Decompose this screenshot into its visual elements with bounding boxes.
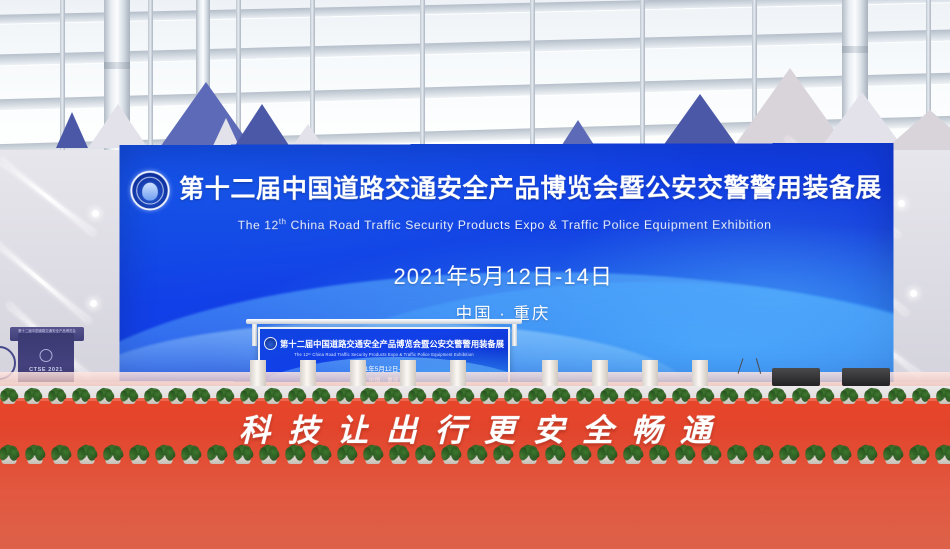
screen-date: 2021年5月12日-14日 [394,259,613,291]
mini-screen-truss [246,319,522,324]
glass-band [0,0,950,25]
screen-title-row: 第十二届中国道路交通安全产品博览会暨公安交警警用装备展 [131,169,882,210]
mini-screen-leg [512,324,517,346]
stage-scene: 2021 12—14日 重庆 CTSE 202 第十二届中国道路交通安全产品博览… [0,0,950,549]
screen-title-en-sup: th [279,217,287,226]
screen-title-cn: 第十二届中国道路交通安全产品博览会暨公安交警警用装备展 [179,176,882,203]
screen-title-en-prefix: The 12 [238,218,279,232]
mini-screen-leg [252,324,257,346]
glass-band [0,29,950,67]
plant-row-upper [0,370,950,404]
screen-title-en-rest: China Road Traffic Security Products Exp… [291,218,772,232]
mini-screen-title-en: The 12ᵗʰ China Road Traffic Security Pro… [294,352,473,357]
mini-screen-title-cn: 第十二届中国道路交通安全产品博览会暨公安交警警用装备展 [280,338,504,350]
ctse-emblem-icon [264,337,277,350]
potted-plant [928,428,950,464]
potted-plant [930,374,950,404]
police-emblem-icon [40,349,53,362]
screen-title-en: The 12th China Road Traffic Security Pro… [238,217,772,233]
ctse-emblem-icon [131,171,170,211]
plant-row-lower [0,424,950,464]
